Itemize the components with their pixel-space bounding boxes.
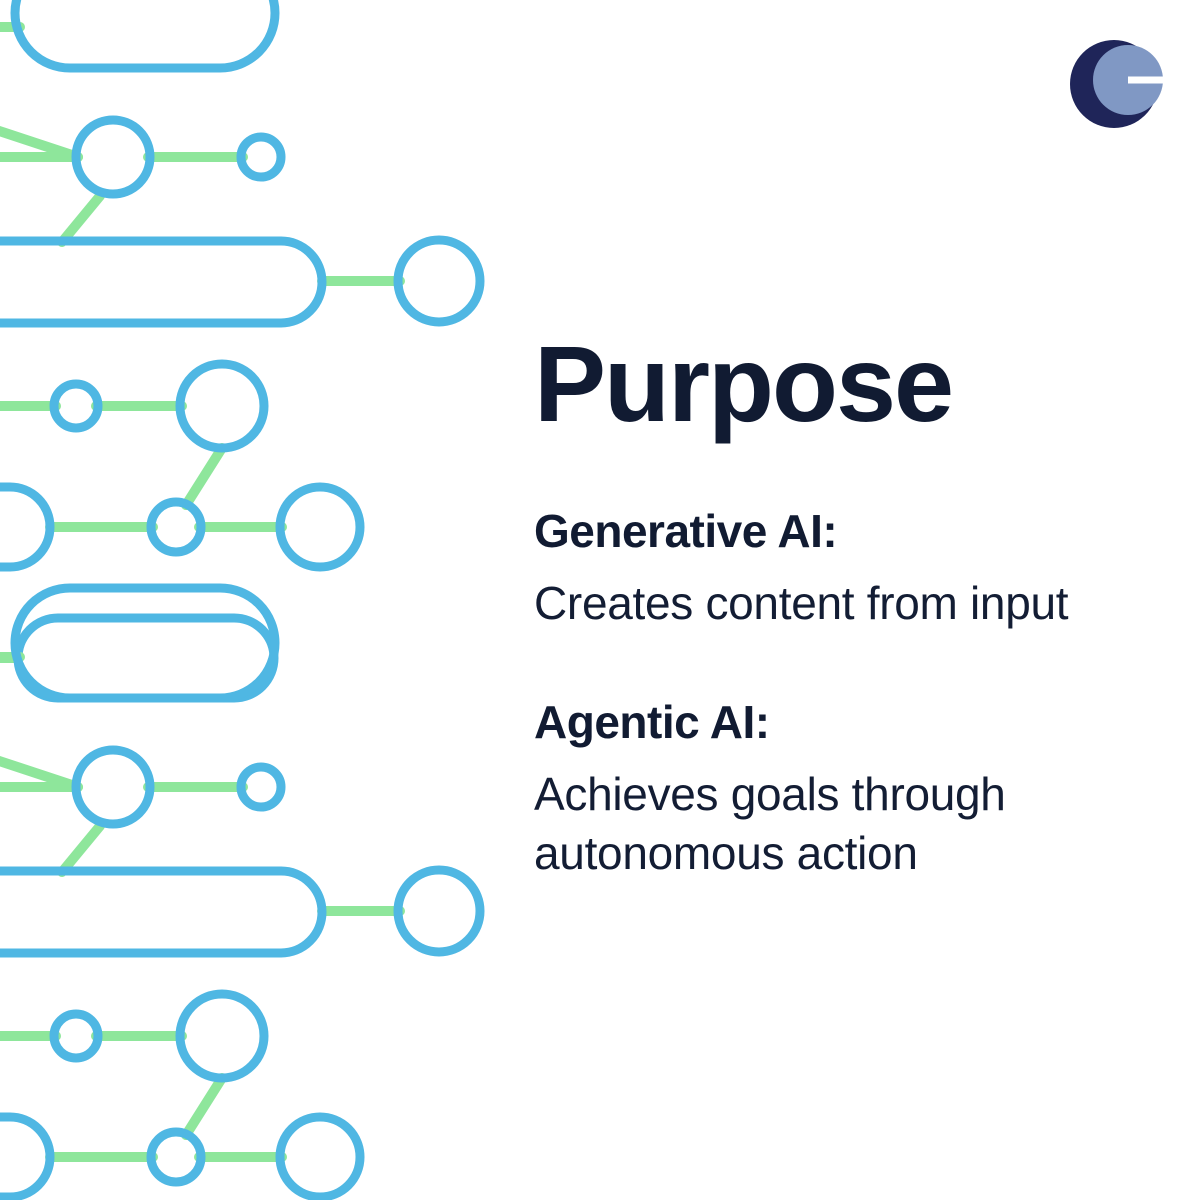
term-label-generative-ai: Generative AI:: [534, 504, 1158, 558]
eclipse-logo: [1068, 32, 1172, 136]
term-label-agentic-ai: Agentic AI:: [534, 695, 1158, 749]
description-agentic-ai: Achieves goals through autonomous action: [534, 765, 1158, 883]
social-card: Purpose Generative AI: Creates content f…: [0, 0, 1200, 1200]
definition-block-agentic-ai: Agentic AI: Achieves goals through auton…: [534, 695, 1158, 883]
description-generative-ai: Creates content from input: [534, 574, 1158, 633]
definition-block-generative-ai: Generative AI: Creates content from inpu…: [534, 504, 1158, 633]
page-title: Purpose: [534, 330, 1158, 438]
node-network-pattern: [0, 0, 500, 1200]
content-column: Purpose Generative AI: Creates content f…: [534, 330, 1158, 883]
